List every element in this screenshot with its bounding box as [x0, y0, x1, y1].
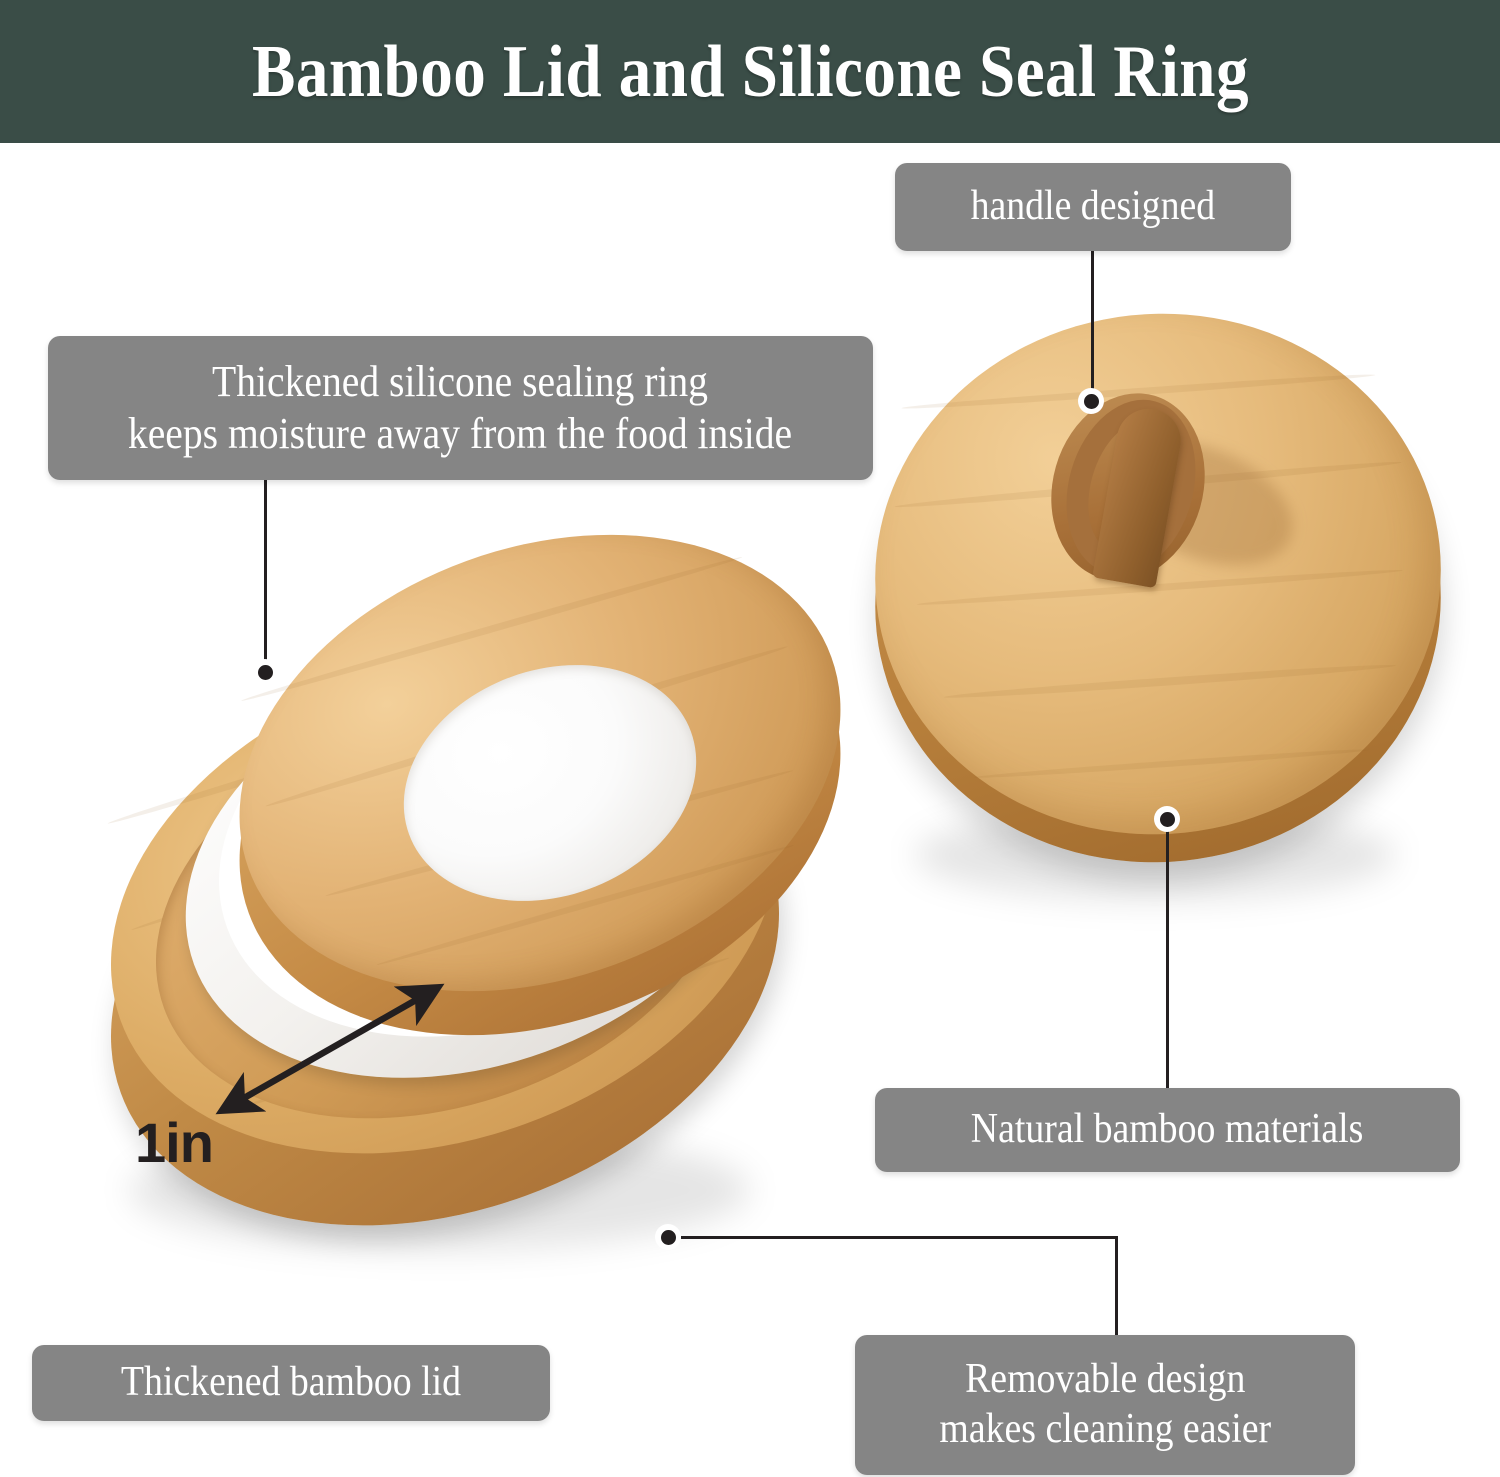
- leader-line-silicone-ring: [264, 480, 267, 676]
- callout-natural-bamboo-materials[interactable]: Natural bamboo materials: [875, 1088, 1460, 1172]
- callout-thickened-bamboo-lid-text: Thickened bamboo lid: [121, 1358, 461, 1408]
- leader-line-removable-h: [681, 1236, 1118, 1239]
- leader-line-removable-v: [1115, 1236, 1118, 1338]
- dimension-label: 1in: [135, 1110, 213, 1175]
- dimension-arrow-icon: [215, 980, 445, 1125]
- infographic-page: Bamboo Lid and Silicone Seal Ring: [0, 0, 1500, 1477]
- leader-dot-silicone-ring: [252, 659, 278, 685]
- product-image-lid-with-seal-ring: [60, 530, 860, 1320]
- callout-handle-designed-text: handle designed: [971, 182, 1216, 232]
- callout-natural-bamboo-materials-text: Natural bamboo materials: [971, 1105, 1364, 1155]
- leader-dot-natural-bamboo: [1154, 806, 1180, 832]
- callout-thickened-bamboo-lid[interactable]: Thickened bamboo lid: [32, 1345, 550, 1421]
- leader-dot-handle-designed: [1078, 388, 1104, 414]
- header-bar: Bamboo Lid and Silicone Seal Ring: [0, 0, 1500, 143]
- leader-line-handle-designed: [1091, 251, 1094, 399]
- leader-line-natural-bamboo: [1166, 826, 1169, 1088]
- callout-silicone-sealing-ring[interactable]: Thickened silicone sealing ring keeps mo…: [48, 336, 873, 480]
- bamboo-lid-surface: [849, 286, 1466, 862]
- callout-removable-design-text: Removable design makes cleaning easier: [939, 1355, 1271, 1454]
- leader-dot-removable-design: [655, 1224, 681, 1250]
- callout-silicone-sealing-ring-text: Thickened silicone sealing ring keeps mo…: [128, 356, 792, 460]
- page-title: Bamboo Lid and Silicone Seal Ring: [252, 35, 1249, 109]
- callout-removable-design[interactable]: Removable design makes cleaning easier: [855, 1335, 1355, 1475]
- callout-handle-designed[interactable]: handle designed: [895, 163, 1291, 251]
